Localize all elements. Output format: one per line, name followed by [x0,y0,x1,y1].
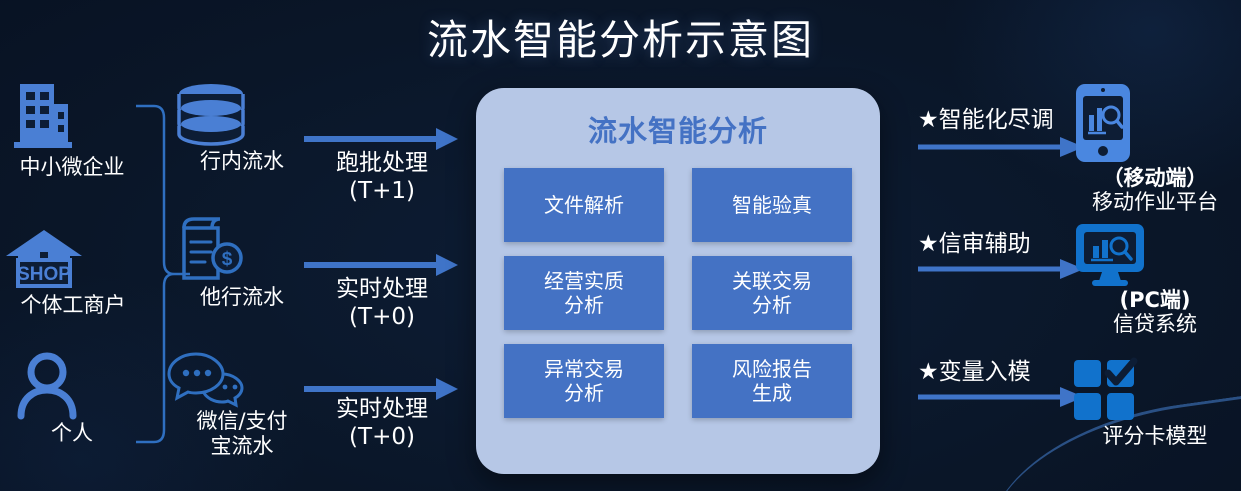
monitor-chart-icon [1072,222,1238,286]
flow-label-realtime-2: 实时处理 (T+0) [296,396,468,451]
flow-arrow-batch [304,126,460,152]
output-line2: 评分卡模型 [1072,424,1238,448]
entity-label: 个体工商户 [21,293,126,317]
person-icon [16,352,128,418]
panel-card[interactable]: 智能验真 [692,168,852,242]
shop-icon: SHOP [4,228,142,290]
output-arrow-label-credit-review: ★信审辅助 [918,224,1031,258]
page-title: 流水智能分析示意图 [0,6,1241,66]
entity-node-person: 个人 [16,352,128,446]
diagram-canvas: 流水智能分析示意图 中小微企业 [0,0,1241,491]
entity-node-individual-business: SHOP 个体工商户 [4,228,142,318]
flow-label-batch: 跑批处理 (T+1) [296,150,468,205]
output-arrow-variable-modeling [918,384,1086,410]
output-arrow-label-due-diligence: ★智能化尽调 [918,100,1054,134]
panel-card[interactable]: 经营实质 分析 [504,256,664,330]
entity-label: 个人 [51,421,93,445]
panel-card[interactable]: 关联交易 分析 [692,256,852,330]
output-node-credit-system: (PC端) 信贷系统 [1072,222,1238,336]
output-line2: 移动作业平台 [1072,190,1238,214]
panel-card[interactable]: 异常交易 分析 [504,344,664,418]
source-node-external-flow: $ 他行流水 [172,216,312,310]
output-arrow-credit-review [918,256,1086,282]
output-line2: 信贷系统 [1072,312,1238,336]
building-icon [8,78,136,152]
panel-card[interactable]: 文件解析 [504,168,664,242]
mobile-chart-icon [1072,82,1238,164]
source-label: 微信/支付 宝流水 [196,409,287,458]
entity-node-sme: 中小微企业 [8,78,136,180]
analysis-panel: 流水智能分析 文件解析 智能验真 经营实质 分析 关联交易 分析 异常交易 分析… [476,88,880,474]
output-arrow-label-variable-modeling: ★变量入模 [918,352,1031,386]
output-line1: （移动端） [1072,166,1238,190]
invoice-dollar-icon: $ [172,216,312,282]
output-arrow-due-diligence [918,134,1086,160]
source-label: 行内流水 [200,149,284,173]
panel-card-grid: 文件解析 智能验真 经营实质 分析 关联交易 分析 异常交易 分析 风险报告 生… [504,168,852,418]
source-label: 他行流水 [200,285,284,309]
panel-title: 流水智能分析 [476,108,880,150]
output-line1: (PC端) [1072,288,1238,312]
source-node-internal-flow: 行内流水 [172,82,312,174]
entity-label: 中小微企业 [20,155,125,179]
panel-card[interactable]: 风险报告 生成 [692,344,852,418]
flow-arrow-realtime-1 [304,252,460,278]
grid-check-icon [1072,358,1238,422]
output-node-scorecard-model: 评分卡模型 [1072,358,1238,448]
output-node-mobile-platform: （移动端） 移动作业平台 [1072,82,1238,214]
svg-text:SHOP: SHOP [17,264,71,285]
svg-text:$: $ [222,249,233,270]
database-icon [172,82,312,146]
flow-label-realtime-1: 实时处理 (T+0) [296,276,468,331]
